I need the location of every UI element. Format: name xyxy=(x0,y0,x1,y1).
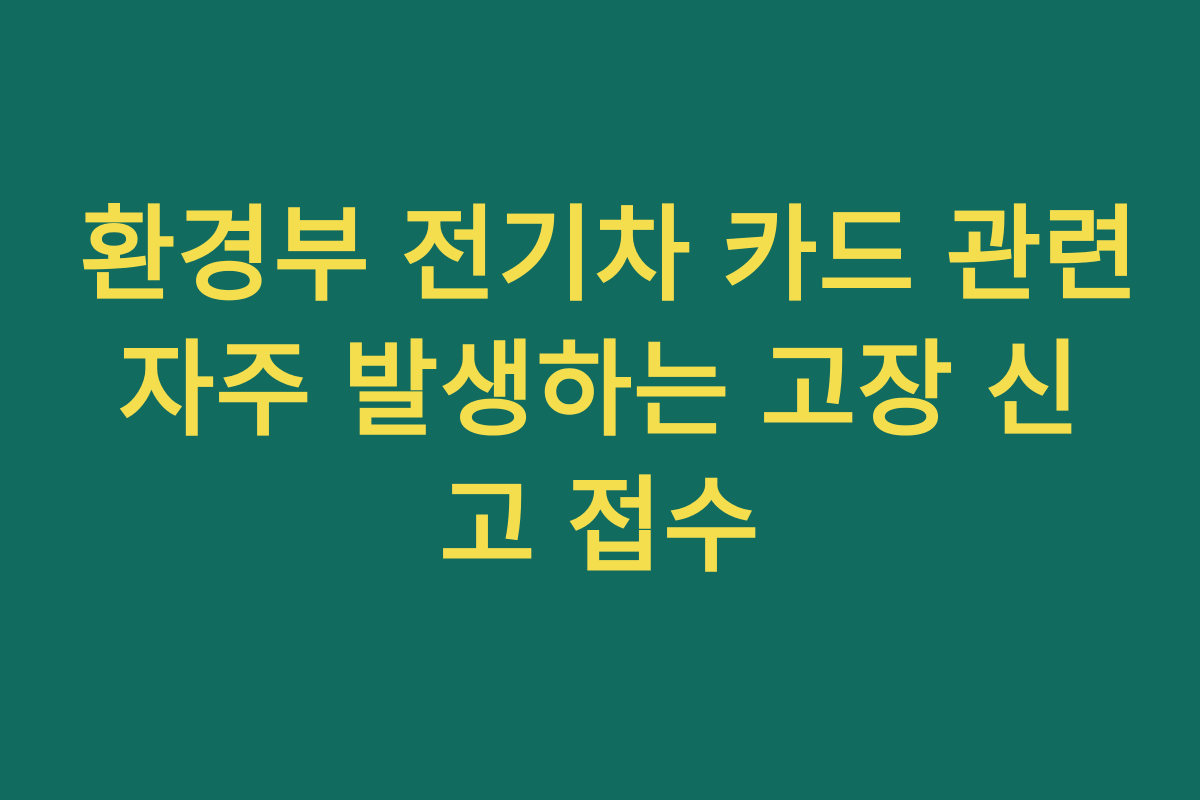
headline-container: 환경부 전기차 카드 관련 자주 발생하는 고장 신 고 접수 xyxy=(80,189,1120,595)
headline-line-3: 고 접수 xyxy=(80,460,1120,595)
page-title: 환경부 전기차 카드 관련 자주 발생하는 고장 신 고 접수 xyxy=(80,189,1120,595)
headline-line-2: 자주 발생하는 고장 신 xyxy=(80,324,1120,459)
headline-line-1: 환경부 전기차 카드 관련 xyxy=(80,189,1120,324)
thumbnail-banner: 환경부 전기차 카드 관련 자주 발생하는 고장 신 고 접수 xyxy=(0,0,1200,800)
